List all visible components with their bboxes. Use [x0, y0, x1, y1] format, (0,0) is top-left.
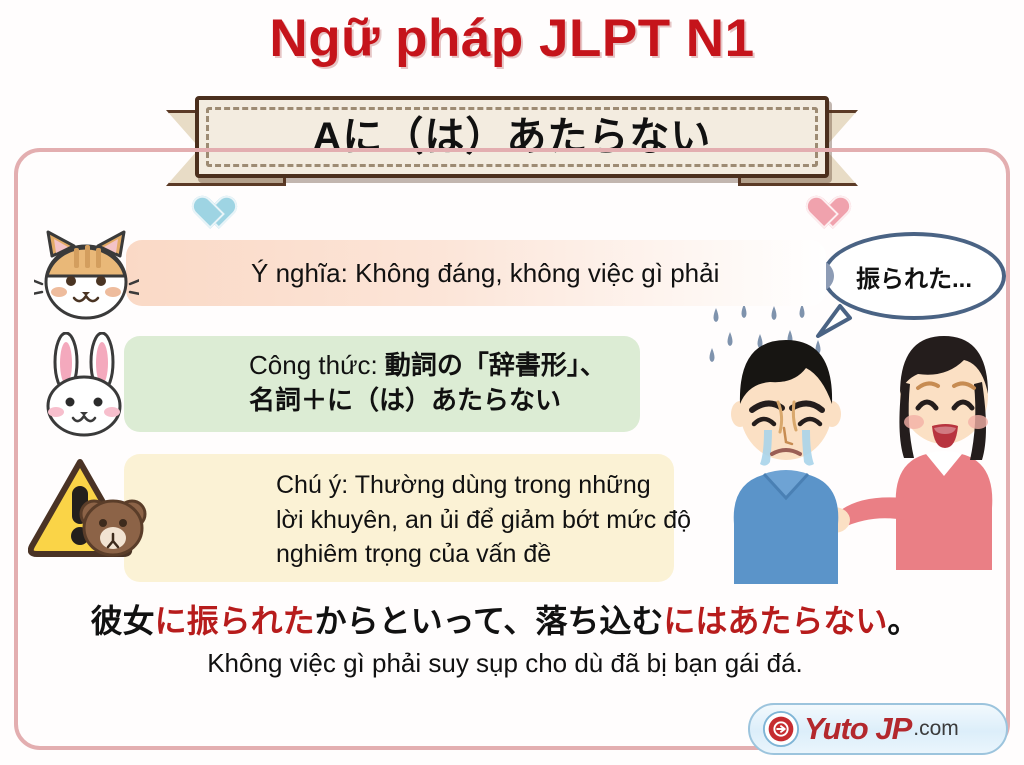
formula-label: Công thức: — [249, 350, 385, 380]
ribbon-center: Aに（は）あたらない — [195, 96, 829, 178]
note-text: Chú ý: Thường dùng trong những lời khuyê… — [276, 468, 691, 572]
note-row: Chú ý: Thường dùng trong những lời khuyê… — [28, 450, 691, 572]
meaning-text: Ý nghĩa: Không đáng, không việc gì phải — [251, 256, 719, 291]
formula-text: Công thức: 動詞の「辞書形」、名詞＋に（は）あたらない — [249, 348, 606, 417]
cat-face-icon — [34, 226, 139, 326]
example-sentence-vn: Không việc gì phải suy sụp cho dù đã bị … — [0, 648, 1010, 679]
site-logo[interactable]: Yuto JP .com — [748, 703, 1008, 755]
formula-line1: 動詞の「辞書形」、 — [385, 350, 606, 380]
target-circle-icon — [762, 710, 800, 748]
example-sentence-jp: 彼女に振られたからといって、落ち込むにはあたらない。 — [0, 596, 1010, 642]
woman-figure — [818, 336, 992, 570]
example-jp-part-2: からといって、落ち込む — [315, 603, 664, 639]
logo-name: Yuto JP — [804, 711, 911, 747]
grammar-banner: Aに（は）あたらない — [0, 92, 1024, 192]
example-jp-part-1: に振られた — [155, 603, 315, 639]
ribbon-dashed-border: Aに（は）あたらない — [206, 107, 818, 167]
meaning-row: Ý nghĩa: Không đáng, không việc gì phải — [34, 226, 719, 326]
grammar-point-text: Aに（は）あたらない — [313, 117, 712, 157]
man-figure — [731, 340, 841, 584]
example-jp-part-3: にはあたらない — [663, 603, 887, 639]
example-jp-part-4: 。 — [887, 603, 919, 639]
example-jp-part-0: 彼女 — [91, 603, 155, 639]
page-title: Ngữ pháp JLPT N1 — [0, 8, 1024, 69]
heart-icon-right — [799, 180, 839, 216]
formula-row: Công thức: 動詞の「辞書形」、名詞＋に（は）あたらない — [32, 332, 606, 440]
infographic-page: Ngữ pháp JLPT N1 Aに（は）あたらない — [0, 0, 1024, 765]
warning-triangle-icon — [28, 450, 150, 570]
bear-face-icon — [81, 501, 145, 555]
heart-icon-left — [185, 180, 225, 216]
logo-tld: .com — [913, 717, 959, 741]
rabbit-face-icon — [32, 332, 137, 440]
formula-line2: 名詞＋に（は）あたらない — [249, 385, 561, 415]
